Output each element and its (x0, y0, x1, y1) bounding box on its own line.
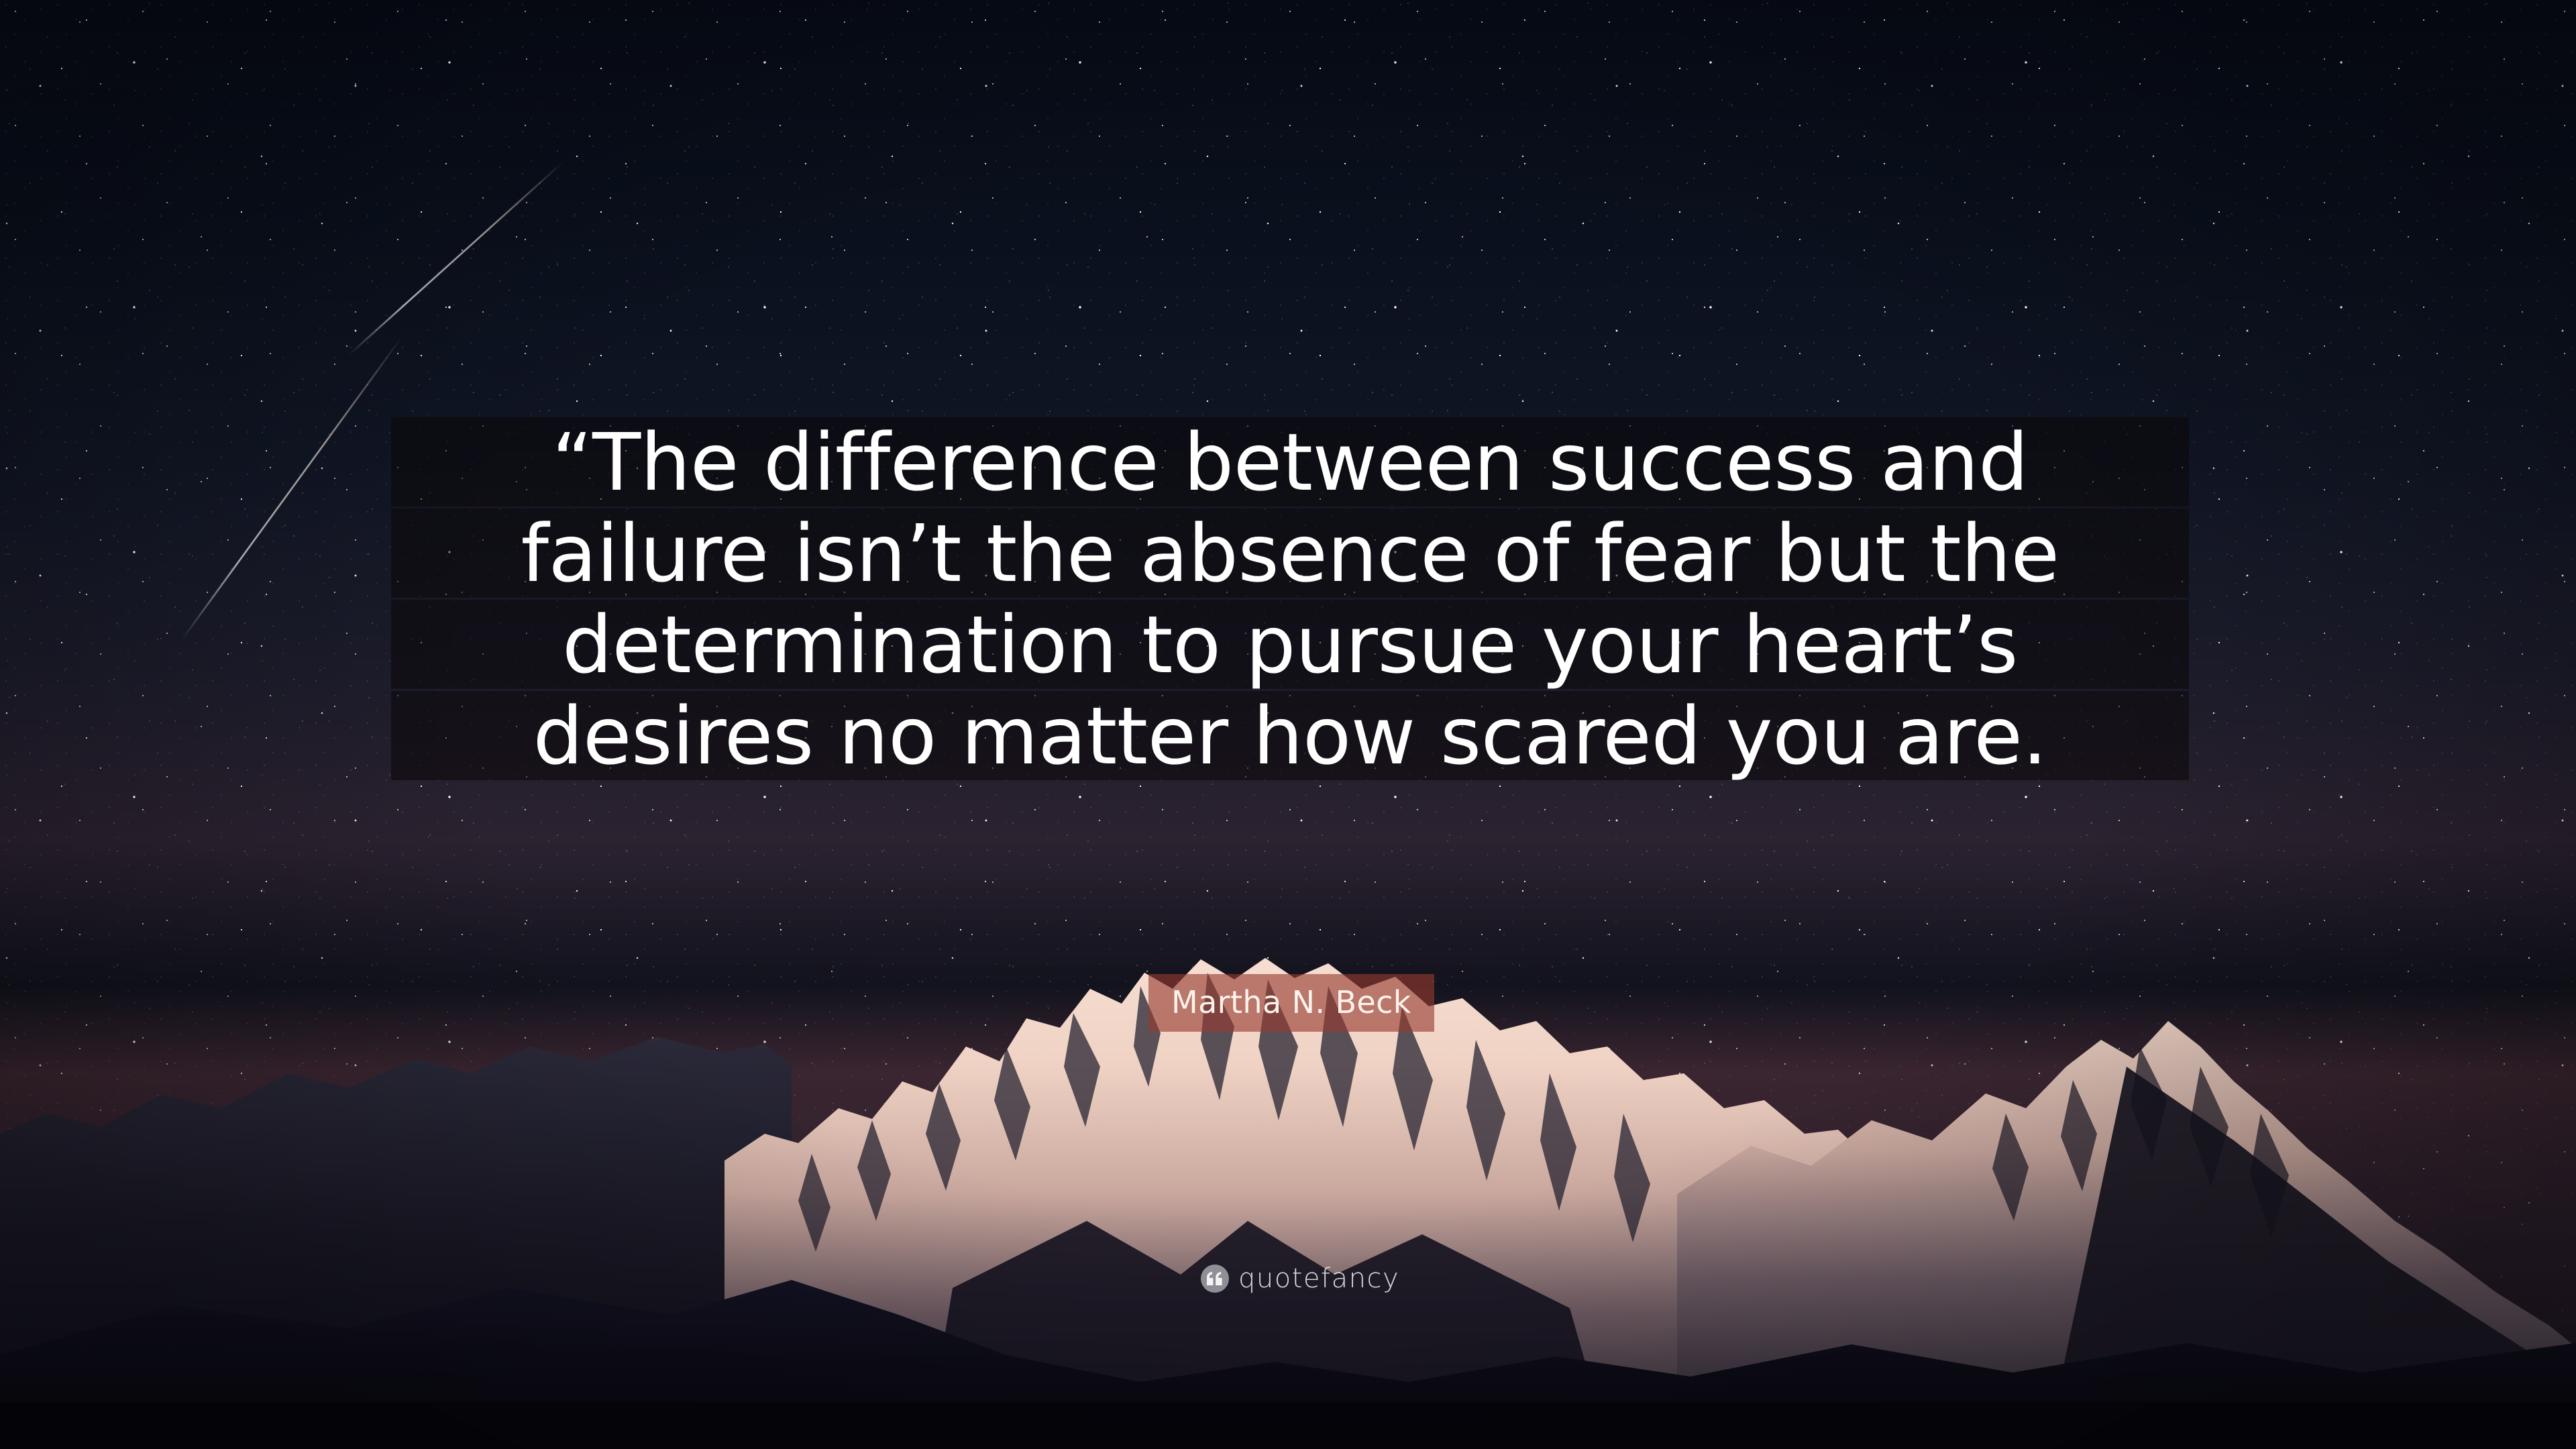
quote-text-block: “The difference between success and fail… (391, 417, 2189, 780)
quote-line-4: desires no matter how scared you are. (391, 691, 2189, 780)
mountain-range (0, 845, 2576, 1449)
quotefancy-logo[interactable]: quotefancy (1201, 1264, 1399, 1293)
quotation-mark-icon (1201, 1265, 1229, 1293)
quote-line-3: determination to pursue your heart’s (391, 600, 2189, 689)
quote-author: Martha N. Beck (1148, 974, 1434, 1032)
quote-line-1: “The difference between success and (391, 417, 2189, 506)
wallpaper-canvas: “The difference between success and fail… (0, 0, 2576, 1449)
brand-name-label: quotefancy (1238, 1264, 1399, 1293)
quote-line-2: failure isn’t the absence of fear but th… (391, 508, 2189, 598)
